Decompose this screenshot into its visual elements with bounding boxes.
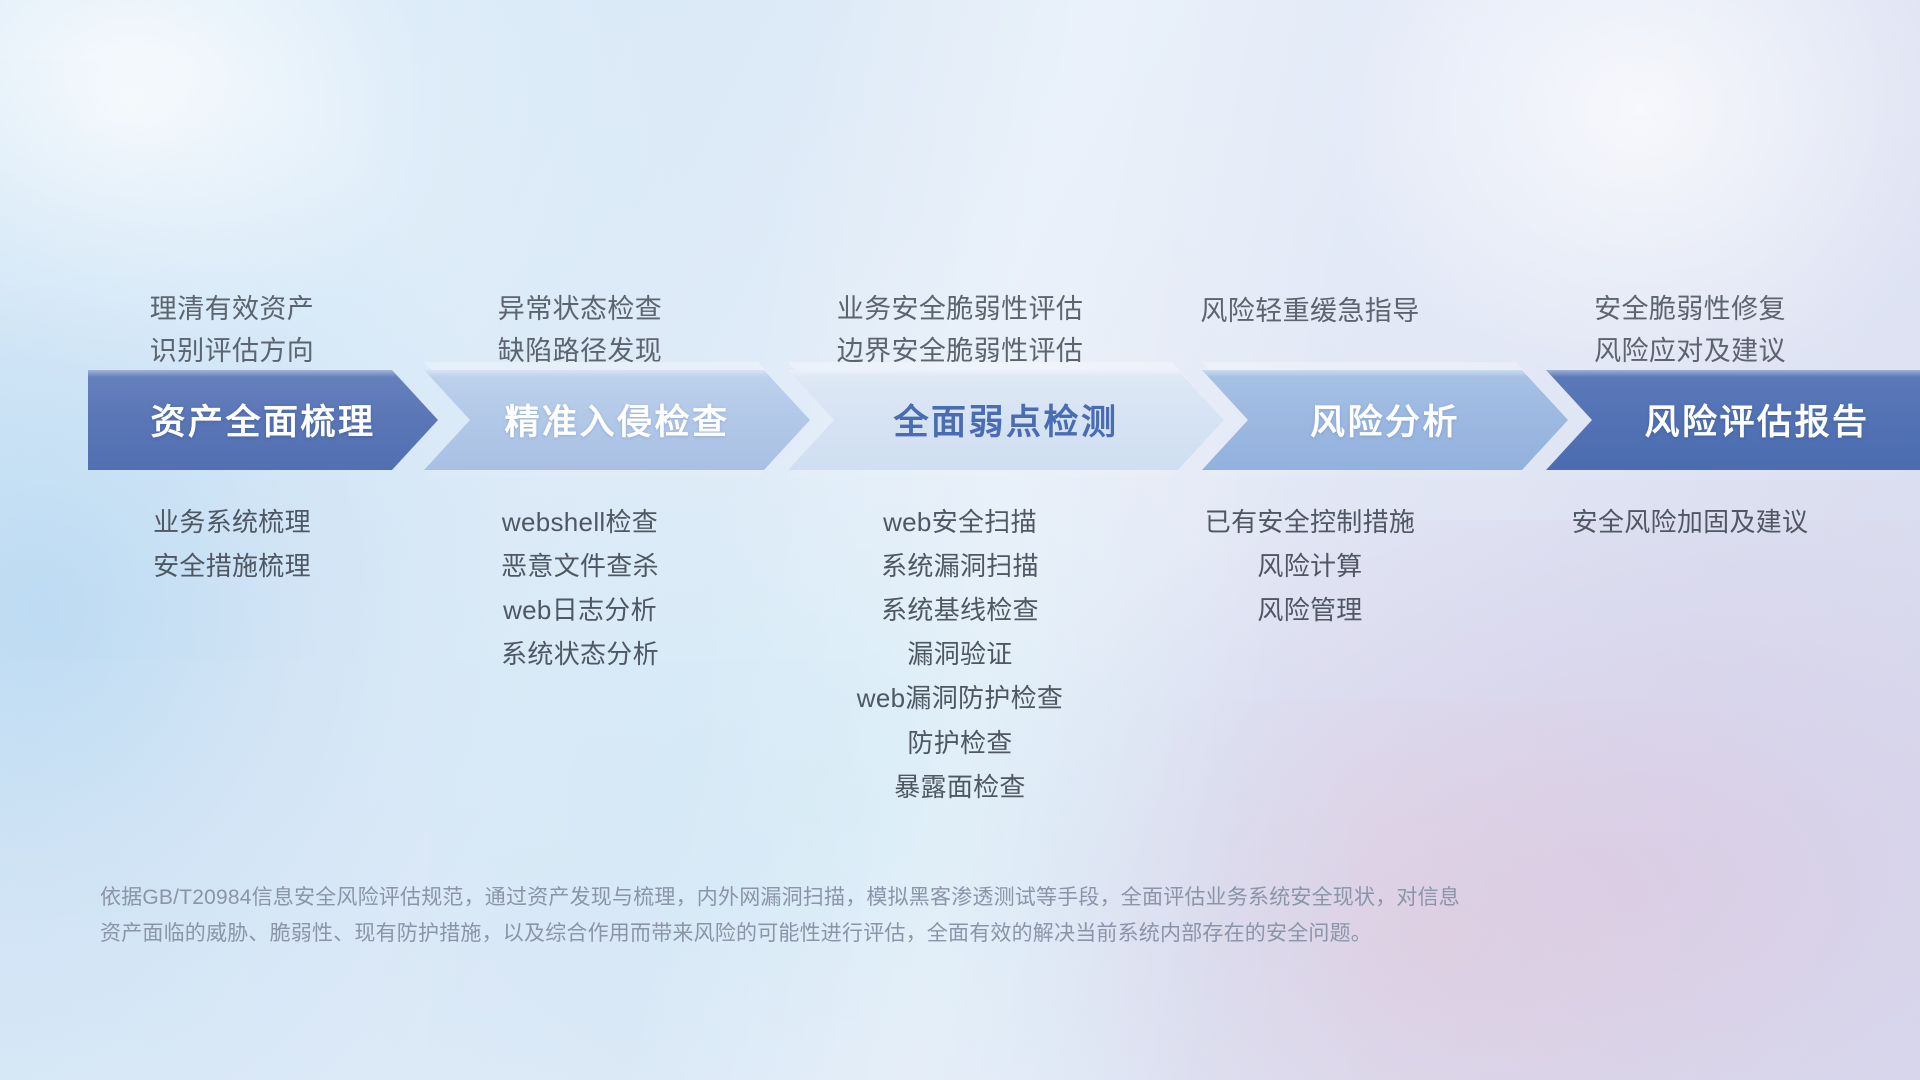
stage-2-top-label: 异常状态检查 — [498, 295, 662, 324]
stage-2-top-labels-column: 异常状态检查 缺陷路径发现 — [380, 0, 780, 366]
stage-2-bottom-item: 恶意文件查杀 — [501, 552, 659, 581]
stage-3-bottom-item: 暴露面检查 — [894, 773, 1026, 802]
stage-3-bottom-item: web安全扫描 — [883, 508, 1037, 537]
process-chevron-band: 资产全面梳理 精准入侵检查 全面弱点检测 风险分析 风险评估报告 — [88, 370, 1848, 470]
stage-2-bottom-item: web日志分析 — [503, 596, 657, 625]
stage-3-bottom-item: 漏洞验证 — [907, 640, 1012, 669]
chevron-stage-1[interactable]: 资产全面梳理 — [88, 370, 438, 470]
chevron-stage-4-label: 风险分析 — [1310, 394, 1460, 445]
stage-3-bottom-item: 系统漏洞扫描 — [881, 552, 1039, 581]
stage-2-bottom-item: webshell检查 — [502, 508, 658, 537]
stage-3-bottom-item: 系统基线检查 — [881, 596, 1039, 625]
chevron-stage-5[interactable]: 风险评估报告 — [1546, 370, 1920, 470]
footer-description: 依据GB/T20984信息安全风险评估规范，通过资产发现与梳理，内外网漏洞扫描，… — [100, 880, 1660, 952]
chevron-stage-1-label: 资产全面梳理 — [150, 394, 375, 445]
stage-3-top-label: 业务安全脆弱性评估 — [837, 295, 1084, 324]
stage-4-bottom-item: 风险计算 — [1257, 552, 1362, 581]
footer-line-2: 资产面临的威胁、脆弱性、现有防护措施，以及综合作用而带来风险的可能性进行评估，全… — [100, 916, 1660, 952]
stage-5-top-labels-column: 安全脆弱性修复 风险应对及建议 — [1480, 0, 1900, 366]
stage-1-top-label: 理清有效资产 — [150, 295, 314, 324]
stage-4-bottom-item: 已有安全控制措施 — [1205, 508, 1415, 537]
stage-4-top-labels-column: 风险轻重缓急指导 — [1110, 0, 1510, 326]
stage-1-bottom-item: 业务系统梳理 — [153, 508, 311, 537]
stage-2-top-label: 缺陷路径发现 — [498, 337, 662, 366]
chevron-stage-5-label: 风险评估报告 — [1644, 394, 1869, 445]
stage-5-bottom-item: 安全风险加固及建议 — [1572, 508, 1809, 537]
stage-1-bottom-item: 安全措施梳理 — [153, 552, 311, 581]
stage-4-top-label: 风险轻重缓急指导 — [1200, 297, 1419, 326]
stage-4-bottom-item: 风险管理 — [1257, 596, 1362, 625]
footer-line-1: 依据GB/T20984信息安全风险评估规范，通过资产发现与梳理，内外网漏洞扫描，… — [100, 880, 1660, 916]
stage-3-top-label: 边界安全脆弱性评估 — [837, 337, 1084, 366]
chevron-stage-2[interactable]: 精准入侵检查 — [424, 370, 810, 470]
stage-5-top-label: 安全脆弱性修复 — [1594, 295, 1786, 324]
stage-2-bottom-item: 系统状态分析 — [501, 640, 659, 669]
chevron-stage-2-label: 精准入侵检查 — [504, 394, 729, 445]
stage-1-top-labels-column: 理清有效资产 识别评估方向 — [28, 0, 436, 366]
stage-3-bottom-item: web漏洞防护检查 — [857, 684, 1063, 713]
stage-5-top-label: 风险应对及建议 — [1594, 337, 1786, 366]
chevron-stage-4[interactable]: 风险分析 — [1202, 370, 1568, 470]
chevron-stage-3[interactable]: 全面弱点检测 — [788, 370, 1224, 470]
stage-3-bottom-item: 防护检查 — [907, 729, 1012, 758]
stage-1-top-label: 识别评估方向 — [150, 337, 314, 366]
chevron-stage-3-label: 全面弱点检测 — [893, 394, 1118, 445]
process-diagram: 理清有效资产 识别评估方向 异常状态检查 缺陷路径发现 业务安全脆弱性评估 边界… — [0, 0, 1920, 1080]
